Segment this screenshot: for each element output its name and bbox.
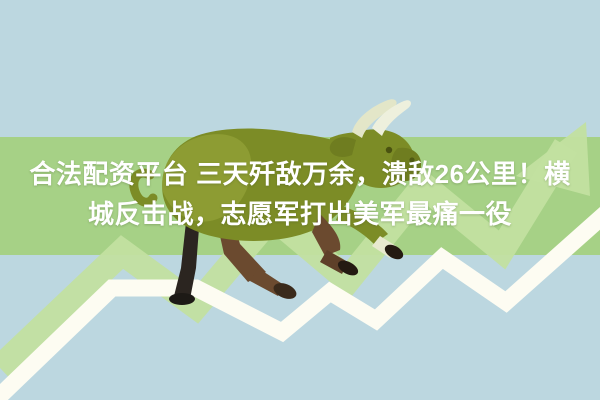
banner-canvas: 合法配资平台 三天歼敌万余，溃敌26公里！横城反击战，志愿军打出美军最痛一役 bbox=[0, 0, 600, 400]
bull-eye bbox=[386, 147, 392, 153]
page-title: 合法配资平台 三天歼敌万余，溃敌26公里！横城反击战，志愿军打出美军最痛一役 bbox=[0, 154, 600, 234]
headline-line-1: 合法配资平台 三天歼敌万余，溃敌26公里！横城反击战，志愿军打出美军最痛一役 bbox=[29, 159, 570, 229]
bull-rear-hoof bbox=[169, 293, 195, 305]
